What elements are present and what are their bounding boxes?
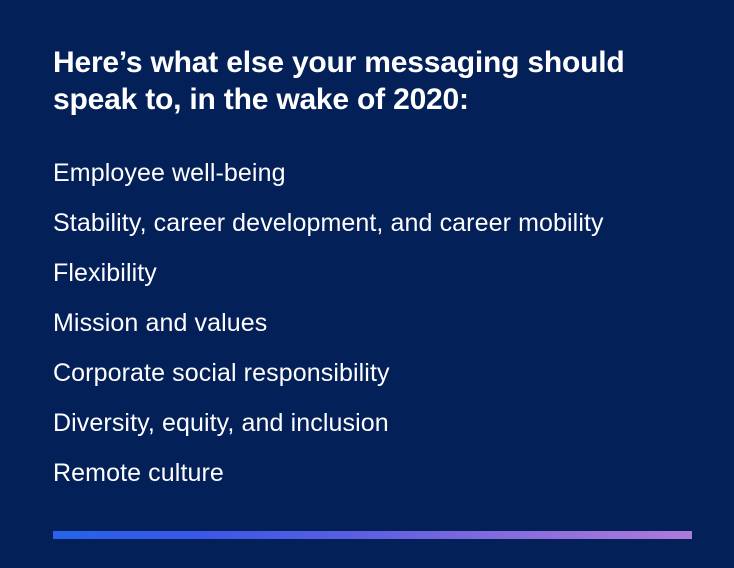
- list-item-label: Corporate social responsibility: [53, 359, 390, 387]
- page-title: Here’s what else your messaging should s…: [53, 44, 673, 118]
- list-item: Employee well-being: [53, 148, 703, 198]
- topic-list: Employee well-being Stability, career de…: [53, 148, 703, 498]
- list-item: Remote culture: [53, 448, 703, 498]
- list-item: Flexibility: [53, 248, 703, 298]
- list-item: Diversity, equity, and inclusion: [53, 398, 703, 448]
- list-item-label: Remote culture: [53, 459, 224, 487]
- list-item-label: Employee well-being: [53, 159, 286, 187]
- list-item: Corporate social responsibility: [53, 348, 703, 398]
- list-item-label: Flexibility: [53, 259, 157, 287]
- slide-canvas: Here’s what else your messaging should s…: [0, 0, 734, 568]
- list-item-label: Mission and values: [53, 309, 267, 337]
- list-item: Stability, career development, and caree…: [53, 198, 703, 248]
- list-item-label: Stability, career development, and caree…: [53, 209, 604, 237]
- list-item-label: Diversity, equity, and inclusion: [53, 409, 389, 437]
- accent-gradient-bar: [53, 531, 692, 539]
- list-item: Mission and values: [53, 298, 703, 348]
